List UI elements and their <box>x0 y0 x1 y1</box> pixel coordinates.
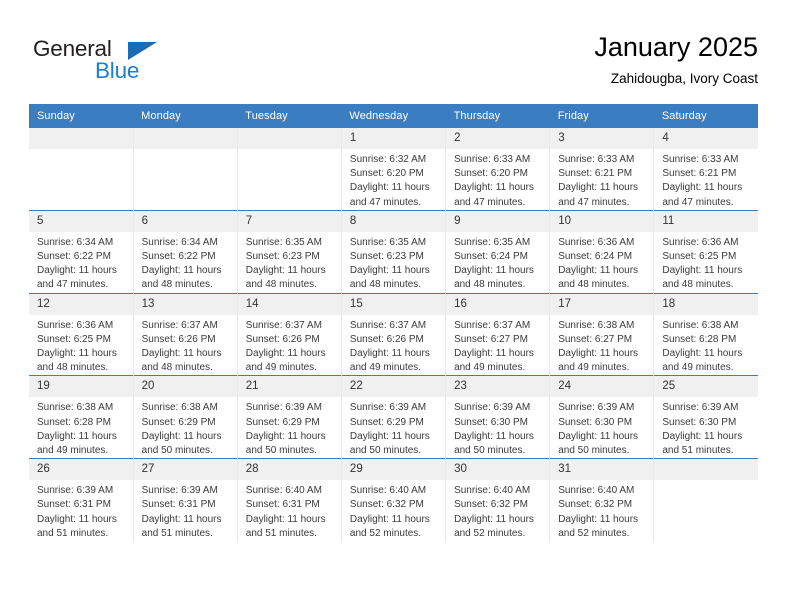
weekday-header-monday: Monday <box>133 104 237 128</box>
calendar-day-cell[interactable]: 15Sunrise: 6:37 AMSunset: 6:26 PMDayligh… <box>341 293 445 376</box>
daylight-text-line1: Daylight: 11 hours <box>558 430 647 444</box>
day-number <box>29 128 133 149</box>
day-details: Sunrise: 6:32 AMSunset: 6:20 PMDaylight:… <box>342 149 445 210</box>
general-blue-logo: General Blue <box>33 36 183 88</box>
daylight-text-line2: and 47 minutes. <box>37 278 127 292</box>
sunrise-text: Sunrise: 6:38 AM <box>37 401 127 415</box>
daylight-text-line2: and 47 minutes. <box>558 196 647 210</box>
daylight-text-line1: Daylight: 11 hours <box>454 264 543 278</box>
calendar-day-cell[interactable]: 29Sunrise: 6:40 AMSunset: 6:32 PMDayligh… <box>341 459 445 541</box>
day-number: 16 <box>446 294 549 315</box>
day-cell-inner: 9Sunrise: 6:35 AMSunset: 6:24 PMDaylight… <box>446 211 549 293</box>
daylight-text-line2: and 48 minutes. <box>558 278 647 292</box>
daylight-text-line2: and 49 minutes. <box>246 361 335 375</box>
day-details: Sunrise: 6:36 AMSunset: 6:25 PMDaylight:… <box>654 232 758 293</box>
sunset-text: Sunset: 6:31 PM <box>246 498 335 512</box>
sunrise-text: Sunrise: 6:36 AM <box>662 236 752 250</box>
daylight-text-line1: Daylight: 11 hours <box>662 430 752 444</box>
day-cell-inner: 20Sunrise: 6:38 AMSunset: 6:29 PMDayligh… <box>134 376 237 458</box>
day-number: 27 <box>134 459 237 480</box>
sunrise-text: Sunrise: 6:39 AM <box>454 401 543 415</box>
day-details: Sunrise: 6:37 AMSunset: 6:26 PMDaylight:… <box>134 315 237 376</box>
daylight-text-line2: and 48 minutes. <box>350 278 439 292</box>
daylight-text-line1: Daylight: 11 hours <box>350 181 439 195</box>
day-details: Sunrise: 6:34 AMSunset: 6:22 PMDaylight:… <box>134 232 237 293</box>
sunrise-text: Sunrise: 6:35 AM <box>350 236 439 250</box>
sunset-text: Sunset: 6:32 PM <box>350 498 439 512</box>
day-cell-inner <box>654 459 758 541</box>
calendar-day-cell[interactable]: 14Sunrise: 6:37 AMSunset: 6:26 PMDayligh… <box>237 293 341 376</box>
day-number <box>238 128 341 149</box>
daylight-text-line2: and 48 minutes. <box>142 361 231 375</box>
daylight-text-line2: and 51 minutes. <box>37 527 127 541</box>
sunrise-text: Sunrise: 6:39 AM <box>246 401 335 415</box>
day-cell-inner: 24Sunrise: 6:39 AMSunset: 6:30 PMDayligh… <box>550 376 653 458</box>
day-cell-inner: 8Sunrise: 6:35 AMSunset: 6:23 PMDaylight… <box>342 211 445 293</box>
sunrise-text: Sunrise: 6:38 AM <box>662 319 752 333</box>
calendar-day-cell[interactable]: 2Sunrise: 6:33 AMSunset: 6:20 PMDaylight… <box>446 128 550 211</box>
weekday-header-saturday: Saturday <box>654 104 758 128</box>
day-details: Sunrise: 6:40 AMSunset: 6:32 PMDaylight:… <box>342 480 445 541</box>
day-cell-inner: 25Sunrise: 6:39 AMSunset: 6:30 PMDayligh… <box>654 376 758 458</box>
sunset-text: Sunset: 6:23 PM <box>246 250 335 264</box>
day-cell-inner: 14Sunrise: 6:37 AMSunset: 6:26 PMDayligh… <box>238 294 341 376</box>
day-details: Sunrise: 6:33 AMSunset: 6:20 PMDaylight:… <box>446 149 549 210</box>
daylight-text-line2: and 49 minutes. <box>350 361 439 375</box>
day-cell-inner: 19Sunrise: 6:38 AMSunset: 6:28 PMDayligh… <box>29 376 133 458</box>
calendar-empty-cell <box>237 128 341 211</box>
daylight-text-line1: Daylight: 11 hours <box>246 513 335 527</box>
daylight-text-line1: Daylight: 11 hours <box>246 264 335 278</box>
day-details: Sunrise: 6:36 AMSunset: 6:24 PMDaylight:… <box>550 232 653 293</box>
day-cell-inner: 16Sunrise: 6:37 AMSunset: 6:27 PMDayligh… <box>446 294 549 376</box>
sunrise-text: Sunrise: 6:32 AM <box>350 153 439 167</box>
day-number <box>134 128 237 149</box>
calendar-page: General Blue January 2025 Zahidougba, Iv… <box>0 0 792 612</box>
day-number: 1 <box>342 128 445 149</box>
day-number: 20 <box>134 376 237 397</box>
day-cell-inner: 5Sunrise: 6:34 AMSunset: 6:22 PMDaylight… <box>29 211 133 293</box>
day-details: Sunrise: 6:33 AMSunset: 6:21 PMDaylight:… <box>550 149 653 210</box>
sunrise-text: Sunrise: 6:36 AM <box>558 236 647 250</box>
calendar-week-row: 26Sunrise: 6:39 AMSunset: 6:31 PMDayligh… <box>29 459 758 541</box>
daylight-text-line1: Daylight: 11 hours <box>350 513 439 527</box>
sunset-text: Sunset: 6:28 PM <box>662 333 752 347</box>
sunrise-text: Sunrise: 6:39 AM <box>662 401 752 415</box>
day-details: Sunrise: 6:37 AMSunset: 6:27 PMDaylight:… <box>446 315 549 376</box>
calendar-day-cell[interactable]: 6Sunrise: 6:34 AMSunset: 6:22 PMDaylight… <box>133 210 237 293</box>
sunset-text: Sunset: 6:27 PM <box>558 333 647 347</box>
day-number: 12 <box>29 294 133 315</box>
sunset-text: Sunset: 6:27 PM <box>454 333 543 347</box>
sunset-text: Sunset: 6:24 PM <box>558 250 647 264</box>
calendar-day-cell[interactable]: 9Sunrise: 6:35 AMSunset: 6:24 PMDaylight… <box>446 210 550 293</box>
day-details: Sunrise: 6:38 AMSunset: 6:28 PMDaylight:… <box>29 397 133 458</box>
day-details: Sunrise: 6:36 AMSunset: 6:25 PMDaylight:… <box>29 315 133 376</box>
day-number: 7 <box>238 211 341 232</box>
daylight-text-line1: Daylight: 11 hours <box>662 264 752 278</box>
daylight-text-line1: Daylight: 11 hours <box>454 430 543 444</box>
calendar-day-cell[interactable]: 23Sunrise: 6:39 AMSunset: 6:30 PMDayligh… <box>446 376 550 459</box>
sunset-text: Sunset: 6:30 PM <box>558 416 647 430</box>
calendar-day-cell[interactable]: 13Sunrise: 6:37 AMSunset: 6:26 PMDayligh… <box>133 293 237 376</box>
sunset-text: Sunset: 6:23 PM <box>350 250 439 264</box>
calendar-day-cell[interactable]: 1Sunrise: 6:32 AMSunset: 6:20 PMDaylight… <box>341 128 445 211</box>
daylight-text-line2: and 48 minutes. <box>37 361 127 375</box>
calendar-day-cell[interactable]: 11Sunrise: 6:36 AMSunset: 6:25 PMDayligh… <box>654 210 758 293</box>
sunset-text: Sunset: 6:25 PM <box>662 250 752 264</box>
daylight-text-line2: and 50 minutes. <box>350 444 439 458</box>
sunrise-text: Sunrise: 6:39 AM <box>558 401 647 415</box>
day-cell-inner: 6Sunrise: 6:34 AMSunset: 6:22 PMDaylight… <box>134 211 237 293</box>
sunset-text: Sunset: 6:20 PM <box>454 167 543 181</box>
calendar-body: 1Sunrise: 6:32 AMSunset: 6:20 PMDaylight… <box>29 128 758 542</box>
daylight-text-line2: and 52 minutes. <box>350 527 439 541</box>
sunset-text: Sunset: 6:26 PM <box>142 333 231 347</box>
page-header: General Blue January 2025 Zahidougba, Iv… <box>33 30 758 98</box>
daylight-text-line1: Daylight: 11 hours <box>454 347 543 361</box>
day-cell-inner: 11Sunrise: 6:36 AMSunset: 6:25 PMDayligh… <box>654 211 758 293</box>
sunrise-text: Sunrise: 6:38 AM <box>558 319 647 333</box>
day-number: 24 <box>550 376 653 397</box>
daylight-text-line1: Daylight: 11 hours <box>246 430 335 444</box>
daylight-text-line2: and 51 minutes. <box>246 527 335 541</box>
daylight-text-line1: Daylight: 11 hours <box>246 347 335 361</box>
sunset-text: Sunset: 6:26 PM <box>350 333 439 347</box>
day-details: Sunrise: 6:35 AMSunset: 6:24 PMDaylight:… <box>446 232 549 293</box>
day-number: 31 <box>550 459 653 480</box>
day-cell-inner: 12Sunrise: 6:36 AMSunset: 6:25 PMDayligh… <box>29 294 133 376</box>
calendar-day-cell[interactable]: 21Sunrise: 6:39 AMSunset: 6:29 PMDayligh… <box>237 376 341 459</box>
sunrise-text: Sunrise: 6:39 AM <box>350 401 439 415</box>
day-details: Sunrise: 6:39 AMSunset: 6:30 PMDaylight:… <box>550 397 653 458</box>
daylight-text-line1: Daylight: 11 hours <box>142 264 231 278</box>
sunset-text: Sunset: 6:31 PM <box>142 498 231 512</box>
day-details: Sunrise: 6:40 AMSunset: 6:32 PMDaylight:… <box>446 480 549 541</box>
daylight-text-line1: Daylight: 11 hours <box>662 181 752 195</box>
sunset-text: Sunset: 6:21 PM <box>558 167 647 181</box>
day-cell-inner: 31Sunrise: 6:40 AMSunset: 6:32 PMDayligh… <box>550 459 653 541</box>
calendar-day-cell[interactable]: 28Sunrise: 6:40 AMSunset: 6:31 PMDayligh… <box>237 459 341 541</box>
sunset-text: Sunset: 6:32 PM <box>454 498 543 512</box>
day-number: 26 <box>29 459 133 480</box>
daylight-text-line1: Daylight: 11 hours <box>454 181 543 195</box>
day-number: 8 <box>342 211 445 232</box>
daylight-text-line2: and 49 minutes. <box>662 361 752 375</box>
title-block: January 2025 Zahidougba, Ivory Coast <box>594 30 758 89</box>
day-cell-inner: 4Sunrise: 6:33 AMSunset: 6:21 PMDaylight… <box>654 128 758 210</box>
calendar-day-cell[interactable]: 19Sunrise: 6:38 AMSunset: 6:28 PMDayligh… <box>29 376 133 459</box>
daylight-text-line1: Daylight: 11 hours <box>37 347 127 361</box>
calendar-empty-cell <box>29 128 133 211</box>
day-cell-inner: 28Sunrise: 6:40 AMSunset: 6:31 PMDayligh… <box>238 459 341 541</box>
daylight-text-line2: and 50 minutes. <box>142 444 231 458</box>
day-number: 23 <box>446 376 549 397</box>
calendar-day-cell[interactable]: 22Sunrise: 6:39 AMSunset: 6:29 PMDayligh… <box>341 376 445 459</box>
calendar-week-row: 12Sunrise: 6:36 AMSunset: 6:25 PMDayligh… <box>29 293 758 376</box>
daylight-text-line1: Daylight: 11 hours <box>37 430 127 444</box>
day-number: 21 <box>238 376 341 397</box>
day-cell-inner: 30Sunrise: 6:40 AMSunset: 6:32 PMDayligh… <box>446 459 549 541</box>
sunset-text: Sunset: 6:32 PM <box>558 498 647 512</box>
weekday-header-sunday: Sunday <box>29 104 133 128</box>
sunset-text: Sunset: 6:28 PM <box>37 416 127 430</box>
sunrise-text: Sunrise: 6:38 AM <box>142 401 231 415</box>
sunrise-text: Sunrise: 6:34 AM <box>142 236 231 250</box>
page-subtitle: Zahidougba, Ivory Coast <box>594 69 758 89</box>
calendar-day-cell[interactable]: 16Sunrise: 6:37 AMSunset: 6:27 PMDayligh… <box>446 293 550 376</box>
day-cell-inner: 10Sunrise: 6:36 AMSunset: 6:24 PMDayligh… <box>550 211 653 293</box>
day-details: Sunrise: 6:39 AMSunset: 6:29 PMDaylight:… <box>238 397 341 458</box>
sunset-text: Sunset: 6:22 PM <box>37 250 127 264</box>
daylight-text-line2: and 50 minutes. <box>454 444 543 458</box>
day-cell-inner: 27Sunrise: 6:39 AMSunset: 6:31 PMDayligh… <box>134 459 237 541</box>
calendar-day-cell[interactable]: 12Sunrise: 6:36 AMSunset: 6:25 PMDayligh… <box>29 293 133 376</box>
daylight-text-line2: and 52 minutes. <box>558 527 647 541</box>
day-number: 29 <box>342 459 445 480</box>
calendar-day-cell[interactable]: 3Sunrise: 6:33 AMSunset: 6:21 PMDaylight… <box>550 128 654 211</box>
day-cell-inner: 3Sunrise: 6:33 AMSunset: 6:21 PMDaylight… <box>550 128 653 210</box>
day-details: Sunrise: 6:33 AMSunset: 6:21 PMDaylight:… <box>654 149 758 210</box>
calendar-week-row: 1Sunrise: 6:32 AMSunset: 6:20 PMDaylight… <box>29 128 758 211</box>
daylight-text-line1: Daylight: 11 hours <box>558 264 647 278</box>
daylight-text-line2: and 51 minutes. <box>142 527 231 541</box>
day-cell-inner: 15Sunrise: 6:37 AMSunset: 6:26 PMDayligh… <box>342 294 445 376</box>
daylight-text-line1: Daylight: 11 hours <box>454 513 543 527</box>
daylight-text-line2: and 52 minutes. <box>454 527 543 541</box>
sunset-text: Sunset: 6:24 PM <box>454 250 543 264</box>
page-title: January 2025 <box>594 30 758 64</box>
day-number: 15 <box>342 294 445 315</box>
sunrise-text: Sunrise: 6:40 AM <box>350 484 439 498</box>
day-cell-inner: 23Sunrise: 6:39 AMSunset: 6:30 PMDayligh… <box>446 376 549 458</box>
sunrise-text: Sunrise: 6:40 AM <box>558 484 647 498</box>
day-cell-inner: 13Sunrise: 6:37 AMSunset: 6:26 PMDayligh… <box>134 294 237 376</box>
daylight-text-line1: Daylight: 11 hours <box>142 347 231 361</box>
day-number: 6 <box>134 211 237 232</box>
day-number: 19 <box>29 376 133 397</box>
day-cell-inner: 1Sunrise: 6:32 AMSunset: 6:20 PMDaylight… <box>342 128 445 210</box>
weekday-header-row: Sunday Monday Tuesday Wednesday Thursday… <box>29 104 758 128</box>
sunset-text: Sunset: 6:22 PM <box>142 250 231 264</box>
day-details: Sunrise: 6:40 AMSunset: 6:31 PMDaylight:… <box>238 480 341 541</box>
weekday-header-wednesday: Wednesday <box>341 104 445 128</box>
calendar-day-cell[interactable]: 8Sunrise: 6:35 AMSunset: 6:23 PMDaylight… <box>341 210 445 293</box>
sunrise-text: Sunrise: 6:37 AM <box>246 319 335 333</box>
day-number: 3 <box>550 128 653 149</box>
sunrise-text: Sunrise: 6:39 AM <box>142 484 231 498</box>
day-number: 10 <box>550 211 653 232</box>
calendar-day-cell[interactable]: 24Sunrise: 6:39 AMSunset: 6:30 PMDayligh… <box>550 376 654 459</box>
sunrise-text: Sunrise: 6:33 AM <box>662 153 752 167</box>
daylight-text-line2: and 48 minutes. <box>142 278 231 292</box>
sunset-text: Sunset: 6:29 PM <box>246 416 335 430</box>
daylight-text-line1: Daylight: 11 hours <box>558 347 647 361</box>
day-details: Sunrise: 6:39 AMSunset: 6:31 PMDaylight:… <box>134 480 237 541</box>
daylight-text-line2: and 48 minutes. <box>662 278 752 292</box>
weekday-header-tuesday: Tuesday <box>237 104 341 128</box>
sunrise-text: Sunrise: 6:37 AM <box>350 319 439 333</box>
daylight-text-line1: Daylight: 11 hours <box>350 430 439 444</box>
sunset-text: Sunset: 6:26 PM <box>246 333 335 347</box>
day-cell-inner <box>29 128 133 210</box>
day-details: Sunrise: 6:40 AMSunset: 6:32 PMDaylight:… <box>550 480 653 541</box>
day-number: 11 <box>654 211 758 232</box>
calendar-week-row: 19Sunrise: 6:38 AMSunset: 6:28 PMDayligh… <box>29 376 758 459</box>
day-details: Sunrise: 6:39 AMSunset: 6:29 PMDaylight:… <box>342 397 445 458</box>
daylight-text-line1: Daylight: 11 hours <box>662 347 752 361</box>
calendar-empty-cell <box>654 459 758 541</box>
day-details: Sunrise: 6:34 AMSunset: 6:22 PMDaylight:… <box>29 232 133 293</box>
daylight-text-line2: and 49 minutes. <box>454 361 543 375</box>
sunrise-text: Sunrise: 6:37 AM <box>454 319 543 333</box>
daylight-text-line2: and 49 minutes. <box>37 444 127 458</box>
day-number <box>654 459 758 480</box>
day-cell-inner: 29Sunrise: 6:40 AMSunset: 6:32 PMDayligh… <box>342 459 445 541</box>
calendar-day-cell[interactable]: 31Sunrise: 6:40 AMSunset: 6:32 PMDayligh… <box>550 459 654 541</box>
day-number: 22 <box>342 376 445 397</box>
calendar-header-row: Sunday Monday Tuesday Wednesday Thursday… <box>29 104 758 128</box>
day-details: Sunrise: 6:37 AMSunset: 6:26 PMDaylight:… <box>238 315 341 376</box>
daylight-text-line1: Daylight: 11 hours <box>37 513 127 527</box>
sunrise-text: Sunrise: 6:36 AM <box>37 319 127 333</box>
calendar-day-cell[interactable]: 4Sunrise: 6:33 AMSunset: 6:21 PMDaylight… <box>654 128 758 211</box>
sunrise-text: Sunrise: 6:33 AM <box>558 153 647 167</box>
day-cell-inner: 22Sunrise: 6:39 AMSunset: 6:29 PMDayligh… <box>342 376 445 458</box>
day-details: Sunrise: 6:39 AMSunset: 6:30 PMDaylight:… <box>654 397 758 458</box>
calendar-empty-cell <box>133 128 237 211</box>
daylight-text-line1: Daylight: 11 hours <box>37 264 127 278</box>
daylight-text-line2: and 50 minutes. <box>246 444 335 458</box>
day-cell-inner: 2Sunrise: 6:33 AMSunset: 6:20 PMDaylight… <box>446 128 549 210</box>
weekday-header-thursday: Thursday <box>446 104 550 128</box>
daylight-text-line1: Daylight: 11 hours <box>350 264 439 278</box>
daylight-text-line1: Daylight: 11 hours <box>558 181 647 195</box>
day-number: 18 <box>654 294 758 315</box>
calendar-day-cell[interactable]: 7Sunrise: 6:35 AMSunset: 6:23 PMDaylight… <box>237 210 341 293</box>
day-details: Sunrise: 6:35 AMSunset: 6:23 PMDaylight:… <box>238 232 341 293</box>
day-number: 4 <box>654 128 758 149</box>
calendar-week-row: 5Sunrise: 6:34 AMSunset: 6:22 PMDaylight… <box>29 210 758 293</box>
daylight-text-line2: and 48 minutes. <box>454 278 543 292</box>
weekday-header-friday: Friday <box>550 104 654 128</box>
calendar-day-cell[interactable]: 5Sunrise: 6:34 AMSunset: 6:22 PMDaylight… <box>29 210 133 293</box>
daylight-text-line1: Daylight: 11 hours <box>558 513 647 527</box>
day-number: 17 <box>550 294 653 315</box>
day-number: 13 <box>134 294 237 315</box>
day-cell-inner: 26Sunrise: 6:39 AMSunset: 6:31 PMDayligh… <box>29 459 133 541</box>
calendar-day-cell[interactable]: 18Sunrise: 6:38 AMSunset: 6:28 PMDayligh… <box>654 293 758 376</box>
sunrise-text: Sunrise: 6:40 AM <box>246 484 335 498</box>
daylight-text-line2: and 51 minutes. <box>662 444 752 458</box>
day-cell-inner: 21Sunrise: 6:39 AMSunset: 6:29 PMDayligh… <box>238 376 341 458</box>
sunset-text: Sunset: 6:30 PM <box>662 416 752 430</box>
calendar-day-cell[interactable]: 30Sunrise: 6:40 AMSunset: 6:32 PMDayligh… <box>446 459 550 541</box>
day-number: 14 <box>238 294 341 315</box>
daylight-text-line1: Daylight: 11 hours <box>142 513 231 527</box>
day-number: 9 <box>446 211 549 232</box>
day-cell-inner: 17Sunrise: 6:38 AMSunset: 6:27 PMDayligh… <box>550 294 653 376</box>
day-number: 28 <box>238 459 341 480</box>
calendar-day-cell[interactable]: 20Sunrise: 6:38 AMSunset: 6:29 PMDayligh… <box>133 376 237 459</box>
day-details: Sunrise: 6:38 AMSunset: 6:28 PMDaylight:… <box>654 315 758 376</box>
daylight-text-line2: and 47 minutes. <box>662 196 752 210</box>
day-number: 25 <box>654 376 758 397</box>
daylight-text-line2: and 49 minutes. <box>558 361 647 375</box>
calendar-day-cell[interactable]: 25Sunrise: 6:39 AMSunset: 6:30 PMDayligh… <box>654 376 758 459</box>
daylight-text-line1: Daylight: 11 hours <box>350 347 439 361</box>
sunset-text: Sunset: 6:30 PM <box>454 416 543 430</box>
sunrise-text: Sunrise: 6:37 AM <box>142 319 231 333</box>
day-cell-inner: 18Sunrise: 6:38 AMSunset: 6:28 PMDayligh… <box>654 294 758 376</box>
day-cell-inner: 7Sunrise: 6:35 AMSunset: 6:23 PMDaylight… <box>238 211 341 293</box>
day-number: 5 <box>29 211 133 232</box>
daylight-text-line2: and 48 minutes. <box>246 278 335 292</box>
sunrise-text: Sunrise: 6:40 AM <box>454 484 543 498</box>
day-details: Sunrise: 6:38 AMSunset: 6:29 PMDaylight:… <box>134 397 237 458</box>
calendar-day-cell[interactable]: 26Sunrise: 6:39 AMSunset: 6:31 PMDayligh… <box>29 459 133 541</box>
day-cell-inner <box>238 128 341 210</box>
sunset-text: Sunset: 6:29 PM <box>142 416 231 430</box>
sunset-text: Sunset: 6:25 PM <box>37 333 127 347</box>
sunrise-text: Sunrise: 6:35 AM <box>454 236 543 250</box>
day-number: 30 <box>446 459 549 480</box>
day-details: Sunrise: 6:39 AMSunset: 6:30 PMDaylight:… <box>446 397 549 458</box>
sunset-text: Sunset: 6:29 PM <box>350 416 439 430</box>
day-details: Sunrise: 6:35 AMSunset: 6:23 PMDaylight:… <box>342 232 445 293</box>
day-cell-inner <box>134 128 237 210</box>
daylight-text-line1: Daylight: 11 hours <box>142 430 231 444</box>
day-details: Sunrise: 6:38 AMSunset: 6:27 PMDaylight:… <box>550 315 653 376</box>
calendar-day-cell[interactable]: 17Sunrise: 6:38 AMSunset: 6:27 PMDayligh… <box>550 293 654 376</box>
sunrise-text: Sunrise: 6:33 AM <box>454 153 543 167</box>
day-details: Sunrise: 6:39 AMSunset: 6:31 PMDaylight:… <box>29 480 133 541</box>
daylight-text-line2: and 50 minutes. <box>558 444 647 458</box>
sunrise-text: Sunrise: 6:35 AM <box>246 236 335 250</box>
sunset-text: Sunset: 6:31 PM <box>37 498 127 512</box>
sunset-text: Sunset: 6:20 PM <box>350 167 439 181</box>
day-details: Sunrise: 6:37 AMSunset: 6:26 PMDaylight:… <box>342 315 445 376</box>
daylight-text-line2: and 47 minutes. <box>350 196 439 210</box>
day-number: 2 <box>446 128 549 149</box>
sunset-text: Sunset: 6:21 PM <box>662 167 752 181</box>
calendar-day-cell[interactable]: 10Sunrise: 6:36 AMSunset: 6:24 PMDayligh… <box>550 210 654 293</box>
sunrise-text: Sunrise: 6:34 AM <box>37 236 127 250</box>
calendar-day-cell[interactable]: 27Sunrise: 6:39 AMSunset: 6:31 PMDayligh… <box>133 459 237 541</box>
sunrise-text: Sunrise: 6:39 AM <box>37 484 127 498</box>
daylight-text-line2: and 47 minutes. <box>454 196 543 210</box>
logo-text-blue: Blue <box>95 58 139 84</box>
calendar-table: Sunday Monday Tuesday Wednesday Thursday… <box>29 104 758 541</box>
